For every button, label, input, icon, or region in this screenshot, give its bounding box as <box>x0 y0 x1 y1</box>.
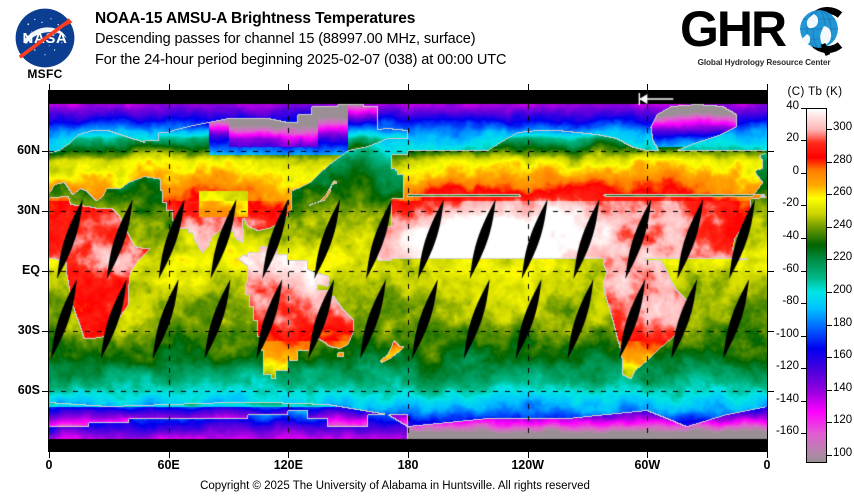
colorbar-tick-celsius <box>801 140 806 141</box>
y-axis-tick <box>42 391 48 392</box>
y-axis-tick <box>768 211 774 212</box>
colorbar-tick-kelvin <box>827 194 832 195</box>
colorbar-label-kelvin: 260 <box>833 186 854 198</box>
subtitle-channel: Descending passes for channel 15 (88997.… <box>95 29 695 50</box>
x-axis-label: 0 <box>19 458 79 472</box>
x-axis-label: 120W <box>498 458 558 472</box>
colorbar-header: (C) Tb (K) <box>776 86 854 98</box>
colorbar-label-celsius: -80 <box>771 295 799 307</box>
colorbar-label-celsius: 20 <box>771 132 799 144</box>
colorbar-tick-kelvin <box>827 292 832 293</box>
colorbar-label-celsius: -120 <box>771 360 799 372</box>
y-axis-label: 30N <box>0 203 40 217</box>
colorbar-tick-celsius <box>801 368 806 369</box>
colorbar-tick-kelvin <box>827 129 832 130</box>
colorbar-tick-celsius <box>801 401 806 402</box>
colorbar-label-kelvin: 140 <box>833 382 854 394</box>
ghrc-wordmark-icon: GHR <box>680 4 848 58</box>
x-axis-tick <box>288 84 289 90</box>
colorbar-label-celsius: -160 <box>771 425 799 437</box>
colorbar-label-celsius: -60 <box>771 263 799 275</box>
colorbar-label-celsius: 0 <box>771 165 799 177</box>
colorbar-tick-celsius <box>801 108 806 109</box>
y-axis-label: 60S <box>0 383 40 397</box>
brightness-temperature-map[interactable] <box>48 90 768 452</box>
colorbar-label-celsius: 40 <box>771 100 799 112</box>
colorbar-label-celsius: -20 <box>771 197 799 209</box>
colorbar-label-kelvin: 100 <box>833 447 854 459</box>
page-title: NOAA-15 AMSU-A Brightness Temperatures <box>95 9 695 29</box>
y-axis-label: 60N <box>0 143 40 157</box>
y-axis-tick <box>768 151 774 152</box>
colorbar-label-kelvin: 280 <box>833 154 854 166</box>
y-axis-tick <box>42 151 48 152</box>
colorbar-label-celsius: -40 <box>771 230 799 242</box>
x-axis-tick <box>767 84 768 90</box>
y-axis-tick <box>42 271 48 272</box>
colorbar-tick-celsius <box>801 238 806 239</box>
colorbar-tick-celsius <box>801 271 806 272</box>
x-axis-label: 60E <box>139 458 199 472</box>
colorbar-label-kelvin: 240 <box>833 219 854 231</box>
colorbar-tick-kelvin <box>827 357 832 358</box>
colorbar-label-kelvin: 160 <box>833 349 854 361</box>
colorbar-tick-kelvin <box>827 325 832 326</box>
x-axis-tick <box>49 84 50 90</box>
subtitle-period: For the 24-hour period beginning 2025-02… <box>95 50 695 71</box>
colorbar-label-kelvin: 300 <box>833 121 854 133</box>
copyright-notice: Copyright © 2025 The University of Alaba… <box>0 480 790 492</box>
x-axis-tick <box>528 84 529 90</box>
colorbar-label-celsius: -100 <box>771 328 799 340</box>
colorbar-tick-kelvin <box>827 227 832 228</box>
map-raster <box>49 91 767 451</box>
y-axis-label: 30S <box>0 323 40 337</box>
colorbar-gradient <box>807 109 826 462</box>
colorbar-tick-kelvin <box>827 455 832 456</box>
y-axis-tick <box>42 211 48 212</box>
colorbar-label-kelvin: 220 <box>833 251 854 263</box>
x-axis-tick <box>408 84 409 90</box>
colorbar-label-celsius: -140 <box>771 393 799 405</box>
ghrc-subtitle: Global Hydrology Resource Center <box>682 58 846 67</box>
colorbar-label-kelvin: 180 <box>833 317 854 329</box>
y-axis-tick <box>768 391 774 392</box>
ghrc-logo: GHR Global Hydrology Resource Center <box>680 4 848 78</box>
colorbar-tick-celsius <box>801 303 806 304</box>
colorbar-tick-kelvin <box>827 162 832 163</box>
colorbar[interactable] <box>806 108 827 463</box>
svg-text:GHR: GHR <box>680 4 787 57</box>
nasa-meatball-icon: NASA <box>15 8 75 68</box>
colorbar-tick-kelvin <box>827 390 832 391</box>
msfc-label: MSFC <box>8 67 82 81</box>
x-axis-label: 120E <box>258 458 318 472</box>
colorbar-tick-celsius <box>801 205 806 206</box>
x-axis-tick <box>169 84 170 90</box>
colorbar-label-kelvin: 200 <box>833 284 854 296</box>
x-axis-label: 180 <box>378 458 438 472</box>
colorbar-tick-kelvin <box>827 422 832 423</box>
x-axis-tick <box>647 84 648 90</box>
nasa-logo: NASA MSFC <box>8 8 82 82</box>
x-axis-label: 60W <box>617 458 677 472</box>
y-axis-tick <box>42 331 48 332</box>
colorbar-label-kelvin: 120 <box>833 414 854 426</box>
colorbar-tick-celsius <box>801 433 806 434</box>
colorbar-tick-celsius <box>801 336 806 337</box>
colorbar-tick-celsius <box>801 173 806 174</box>
x-axis-label: 0 <box>737 458 797 472</box>
title-block: NOAA-15 AMSU-A Brightness Temperatures D… <box>95 9 695 71</box>
y-axis-label: EQ <box>0 263 40 277</box>
colorbar-tick-kelvin <box>827 259 832 260</box>
